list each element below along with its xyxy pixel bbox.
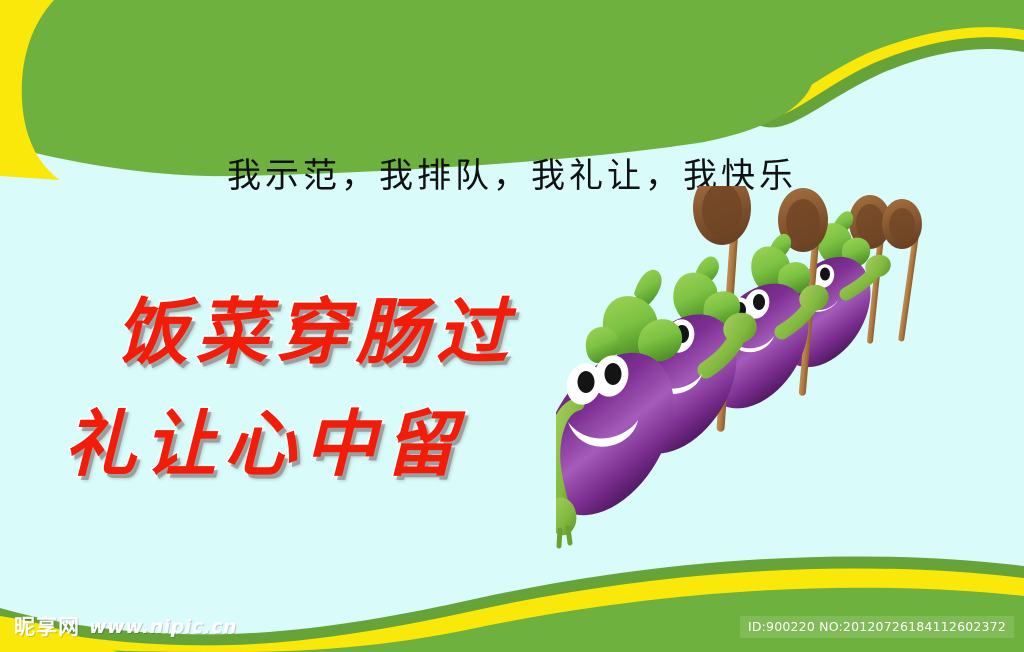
top-band-yellow bbox=[0, 0, 1024, 168]
slogan-block: 饭菜穿肠过 礼让心中留 bbox=[52, 276, 612, 500]
nipic-logo: 昵享网 bbox=[14, 617, 80, 638]
eggplant-queue-graphic bbox=[556, 186, 976, 586]
slogan-line-2: 礼让心中留 bbox=[64, 388, 612, 500]
eggplant-illustration bbox=[556, 186, 976, 586]
top-band-green-dark bbox=[0, 0, 1024, 160]
nipic-url: www.nipic.cn bbox=[89, 618, 237, 637]
watermark: 昵享网 www.nipic.cn bbox=[14, 614, 237, 640]
poster-canvas: 我示范，我排队，我礼让，我快乐 饭菜穿肠过 礼让心中留 bbox=[0, 0, 1024, 652]
id-stamp: ID:900220 NO:20120726184112602372 bbox=[740, 616, 1014, 638]
slogan-line-1: 饭菜穿肠过 bbox=[116, 276, 612, 388]
